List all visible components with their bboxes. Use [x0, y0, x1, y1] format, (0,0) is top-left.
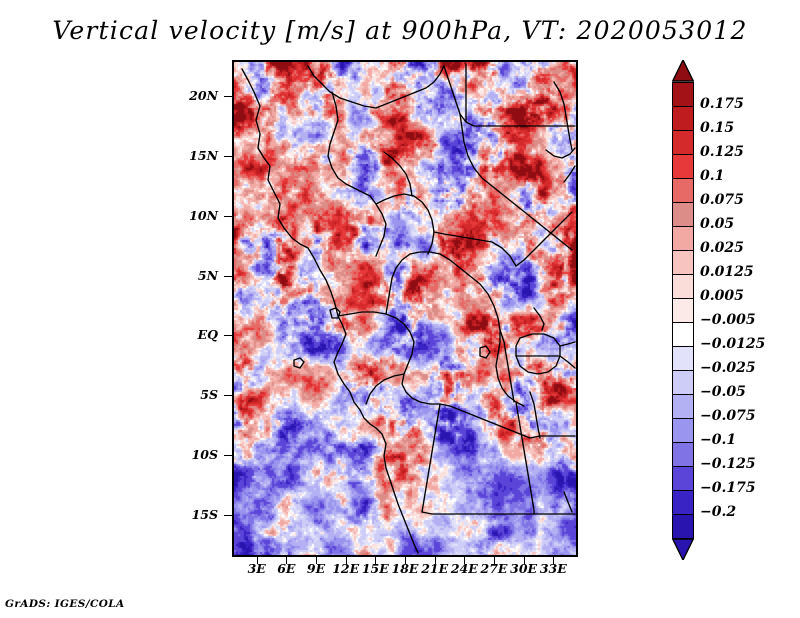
y-axis-tick-label: 10N [158, 208, 218, 223]
colorbar-tick-label: −0.2 [700, 504, 736, 520]
y-axis-tick-label: 15S [158, 507, 218, 522]
x-axis-tick-mark [553, 557, 554, 564]
colorbar-tick-label: 0.175 [700, 96, 744, 112]
colorbar-swatch [672, 130, 694, 155]
x-axis-tick-mark [286, 557, 287, 564]
x-axis-tick-mark [494, 557, 495, 564]
colorbar-tick-label: −0.1 [700, 432, 736, 448]
colorbar-tick-label: −0.125 [700, 456, 756, 472]
colorbar-tick-label: 0.075 [700, 192, 744, 208]
colorbar-swatch [672, 466, 694, 491]
colorbar-tick-label: 0.025 [700, 240, 744, 256]
colorbar-swatch [672, 106, 694, 131]
colorbar-swatch [672, 226, 694, 251]
y-axis-tick-label: 15N [158, 148, 218, 163]
colorbar-tick-label: 0.125 [700, 144, 744, 160]
colorbar-swatch [672, 322, 694, 347]
colorbar-tick-label: −0.175 [700, 480, 756, 496]
colorbar-extend-low-arrow [672, 538, 694, 560]
colorbar-tick-label: −0.075 [700, 408, 756, 424]
y-axis-tick-label: EQ [158, 327, 218, 342]
colorbar-tick-label: 0.15 [700, 120, 734, 136]
y-axis-tick-mark [224, 216, 232, 217]
colorbar-swatch [672, 250, 694, 275]
y-axis-tick-label: 5S [158, 387, 218, 402]
colorbar-tick-label: 0.0125 [700, 264, 754, 280]
map-plot-area [232, 60, 578, 557]
colorbar-swatch [672, 442, 694, 467]
x-axis-tick-mark [464, 557, 465, 564]
x-axis-tick-mark [346, 557, 347, 564]
colorbar-swatch [672, 178, 694, 203]
colorbar-swatch [672, 202, 694, 227]
y-axis-tick-mark [224, 335, 232, 336]
colorbar-extend-high-arrow [672, 60, 694, 82]
x-axis-tick-mark [257, 557, 258, 564]
x-axis-tick-mark [405, 557, 406, 564]
y-axis-tick-mark [224, 515, 232, 516]
country-borders-overlay [234, 62, 576, 555]
colorbar-swatch [672, 298, 694, 323]
y-axis-tick-label: 10S [158, 447, 218, 462]
colorbar-swatch [672, 154, 694, 179]
colorbar [672, 60, 694, 560]
colorbar-tick-label: −0.05 [700, 384, 746, 400]
colorbar-swatch [672, 82, 694, 107]
y-axis-tick-label: 20N [158, 88, 218, 103]
page-title: Vertical velocity [m/s] at 900hPa, VT: 2… [0, 16, 800, 45]
y-axis-tick-mark [224, 395, 232, 396]
colorbar-tick-label: 0.005 [700, 288, 744, 304]
y-axis-tick-mark [224, 276, 232, 277]
colorbar-swatch [672, 490, 694, 515]
colorbar-tick-label: −0.0125 [700, 336, 765, 352]
colorbar-swatch [672, 370, 694, 395]
x-axis-tick-mark [524, 557, 525, 564]
colorbar-swatch [672, 274, 694, 299]
colorbar-tick-label: −0.005 [700, 312, 756, 328]
colorbar-tick-label: −0.025 [700, 360, 756, 376]
x-axis-tick-mark [375, 557, 376, 564]
colorbar-tick-label: 0.1 [700, 168, 724, 184]
x-axis-tick-mark [316, 557, 317, 564]
grads-credit: GrADS: IGES/COLA [5, 598, 125, 610]
colorbar-swatch [672, 346, 694, 371]
colorbar-swatch [672, 514, 694, 539]
y-axis-tick-label: 5N [158, 268, 218, 283]
y-axis-tick-mark [224, 455, 232, 456]
y-axis-tick-mark [224, 156, 232, 157]
colorbar-swatch [672, 418, 694, 443]
colorbar-swatch [672, 394, 694, 419]
y-axis-tick-mark [224, 96, 232, 97]
x-axis-tick-mark [435, 557, 436, 564]
colorbar-tick-label: 0.05 [700, 216, 734, 232]
